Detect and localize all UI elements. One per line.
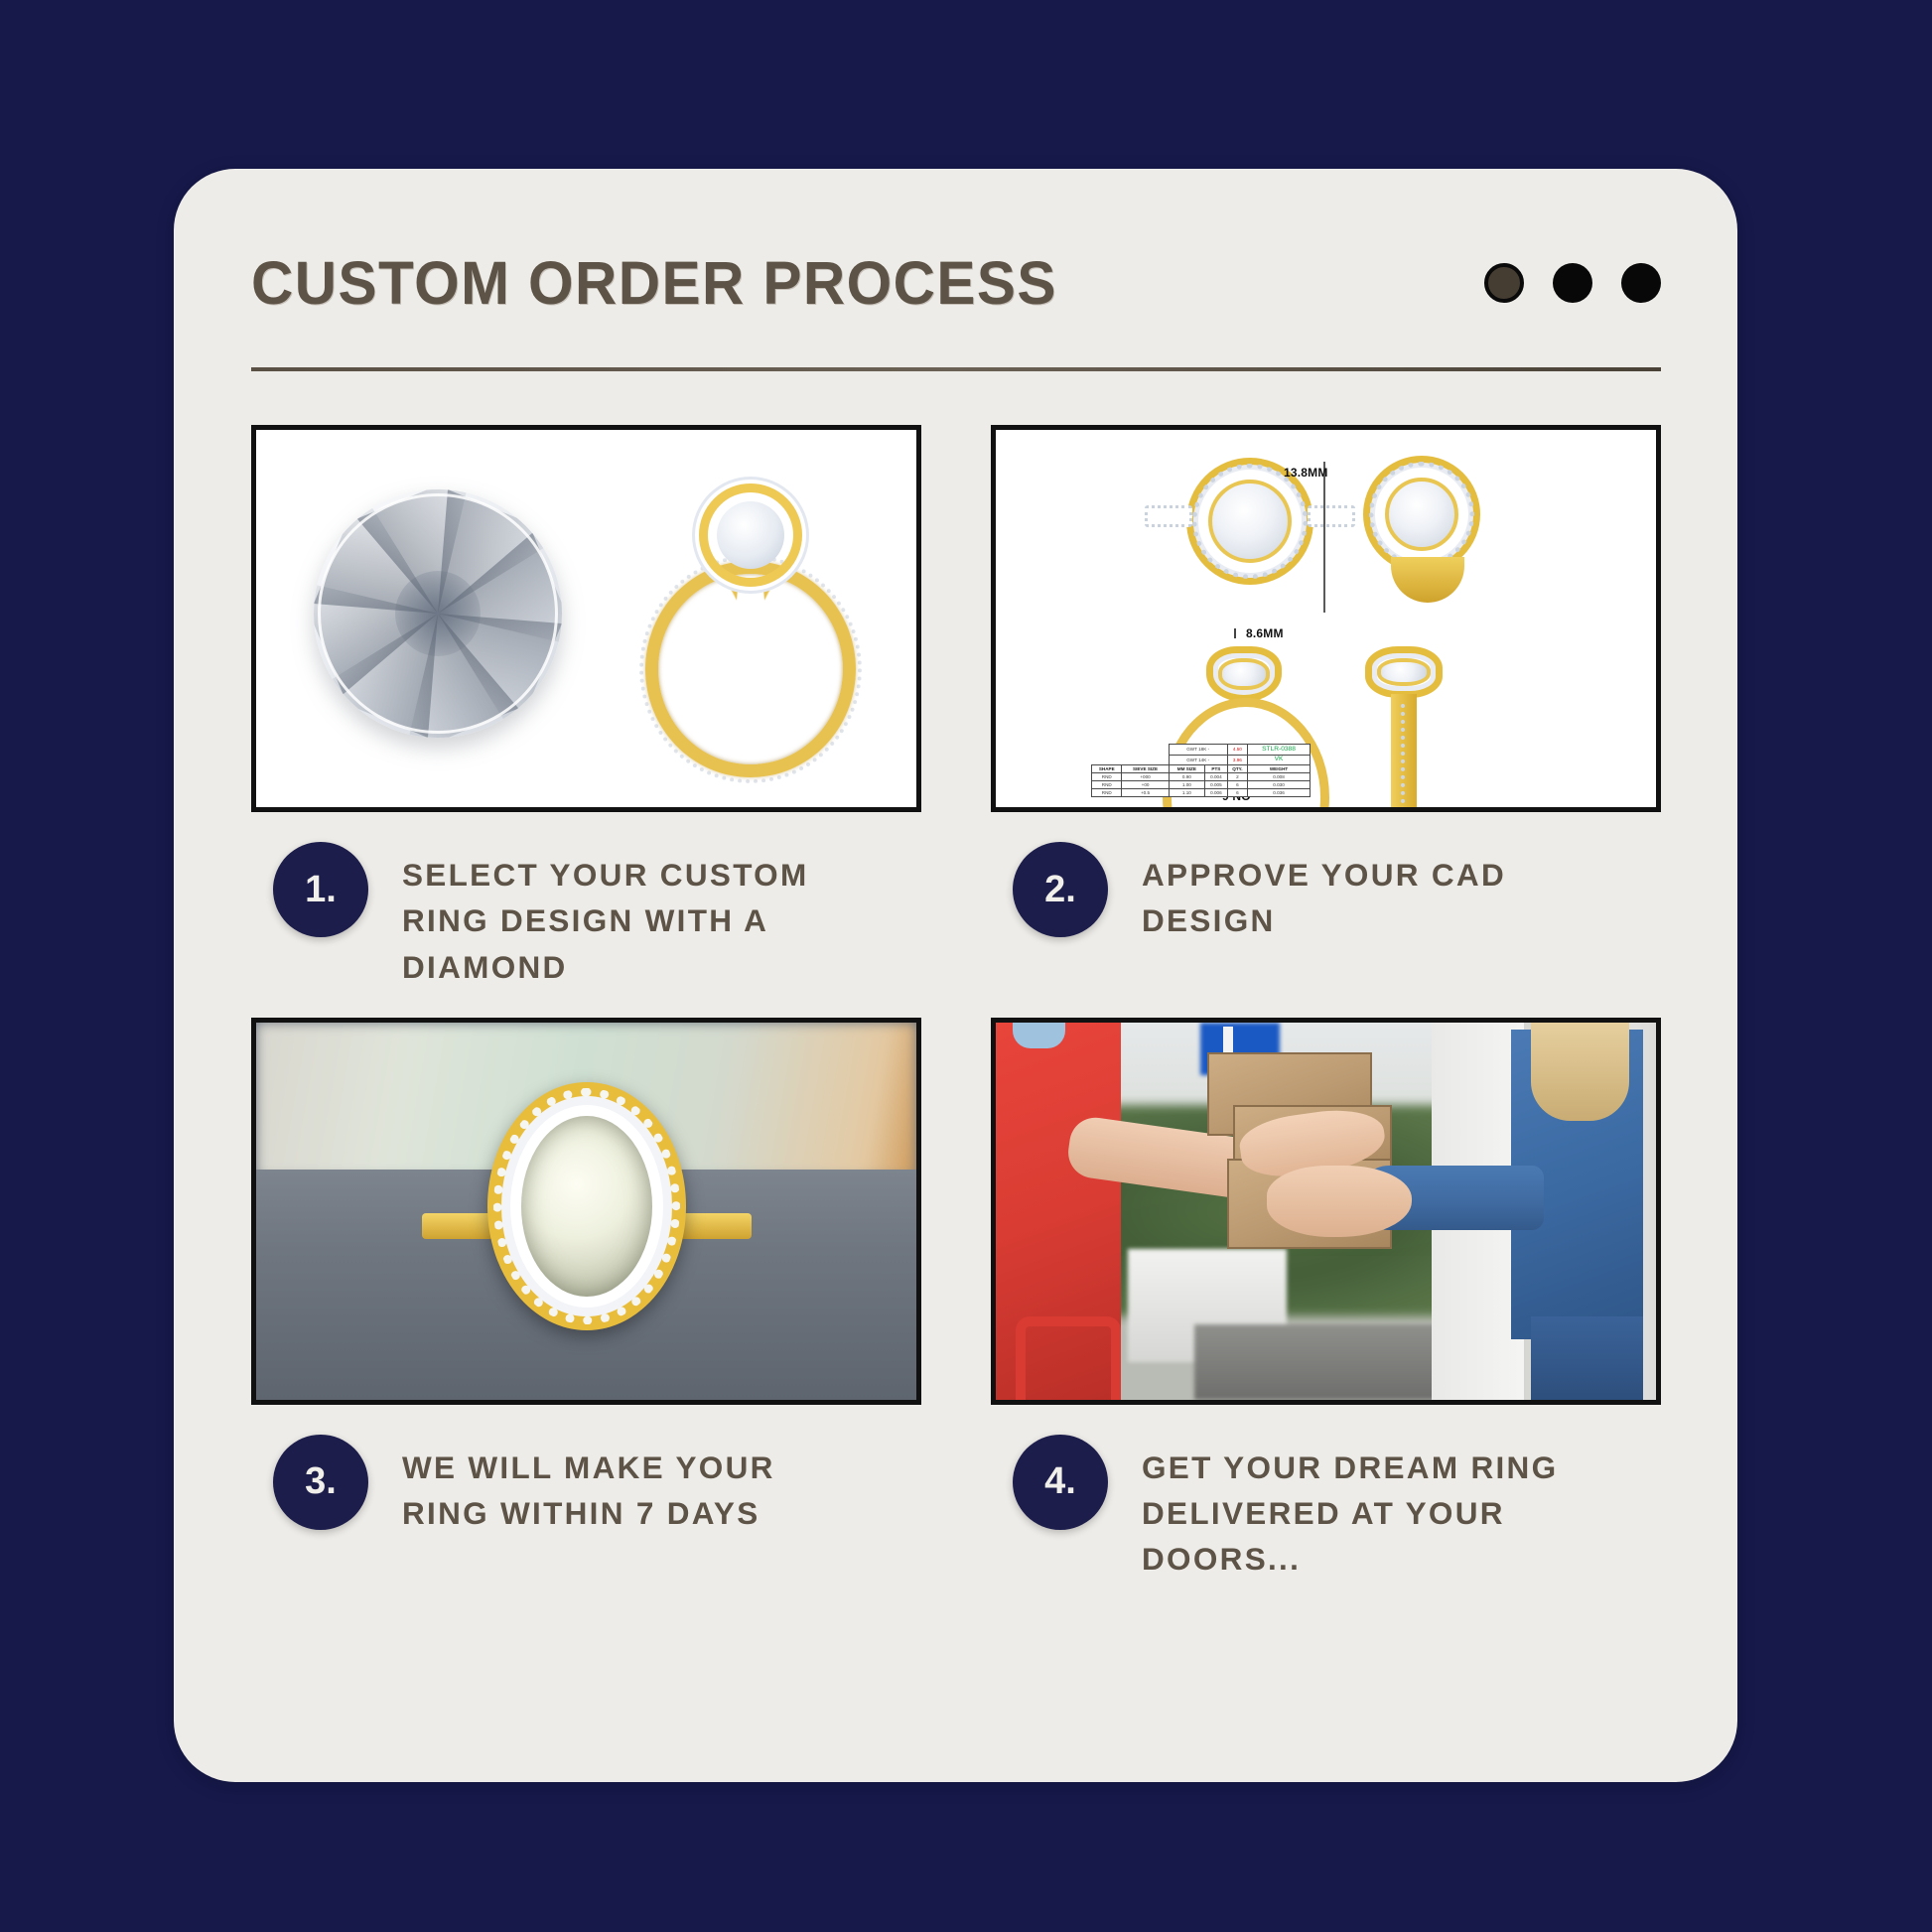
cad-angled-view	[1363, 456, 1480, 573]
step-1-badge: 1.	[273, 842, 368, 937]
step-1-caption: 1. SELECT YOUR CUSTOM RING DESIGN WITH A…	[251, 812, 921, 990]
dot-one-icon[interactable]	[1484, 263, 1524, 303]
window-controls	[1484, 263, 1661, 303]
customer-hand	[1267, 1166, 1412, 1237]
step-1-image	[251, 425, 921, 812]
step-3-badge: 3.	[273, 1435, 368, 1530]
table-row: RND +00 1.00 0.005 6 0.030	[1092, 781, 1311, 789]
cad-th-pts: PTS	[1205, 765, 1228, 773]
table-row: RND +000 0.90 0.004 2 0.008	[1092, 773, 1311, 781]
dot-three-icon[interactable]	[1621, 263, 1661, 303]
cad-th-weight: WEIGHT	[1248, 765, 1311, 773]
hand-truck-icon	[1016, 1316, 1121, 1400]
step-2-image: 13.8MM 8.6MM	[991, 425, 1661, 812]
step-item-3: 3. WE WILL MAKE YOUR RING WITHIN 7 DAYS	[251, 1018, 921, 1583]
step-3-caption: 3. WE WILL MAKE YOUR RING WITHIN 7 DAYS	[251, 1405, 921, 1537]
cad-th-mm: MM SIZE	[1169, 765, 1204, 773]
step-item-1: 1. SELECT YOUR CUSTOM RING DESIGN WITH A…	[251, 425, 921, 990]
steps-grid: 1. SELECT YOUR CUSTOM RING DESIGN WITH A…	[251, 425, 1661, 1583]
cad-gwt14k-label: GWT 14K -	[1169, 755, 1227, 764]
cad-th-qty: QTY.	[1227, 765, 1247, 773]
page-title: CUSTOM ORDER PROCESS	[251, 248, 1057, 318]
step-3-label: WE WILL MAKE YOUR RING WITHIN 7 DAYS	[402, 1435, 869, 1537]
step-2-label: APPROVE YOUR CAD DESIGN	[1142, 842, 1579, 944]
customer-hair	[1531, 1023, 1630, 1121]
photo-road	[1194, 1324, 1458, 1400]
halo-ring-icon	[621, 476, 880, 783]
cad-dimension-top: 13.8MM	[1284, 466, 1328, 480]
step-item-2: 13.8MM 8.6MM	[991, 425, 1661, 990]
customer-jeans	[1531, 1316, 1643, 1400]
cad-dimension-front: 8.6MM	[1246, 626, 1284, 640]
step-4-image	[991, 1018, 1661, 1405]
cad-style-code: STLR-0388	[1248, 745, 1311, 755]
step-4-caption: 4. GET YOUR DREAM RING DELIVERED AT YOUR…	[991, 1405, 1661, 1583]
cad-gwt18k-label: GWT 18K -	[1169, 745, 1227, 755]
cad-maker-code: VK	[1248, 755, 1311, 764]
cad-gwt14k-value: 3.96	[1227, 755, 1247, 764]
step-2-badge: 2.	[1013, 842, 1108, 937]
card-header: CUSTOM ORDER PROCESS	[251, 223, 1661, 343]
dot-two-icon[interactable]	[1553, 263, 1592, 303]
cad-th-shape: SHAPE	[1092, 765, 1122, 773]
loose-diamond-icon	[314, 489, 562, 738]
header-divider	[251, 367, 1661, 371]
process-card: CUSTOM ORDER PROCESS	[174, 169, 1737, 1782]
step-2-caption: 2. APPROVE YOUR CAD DESIGN	[991, 812, 1661, 944]
table-row: RND +0.5 1.10 0.006 6 0.036	[1092, 789, 1311, 797]
step-3-image	[251, 1018, 921, 1405]
cad-spec-table: GWT 18K - 4.50 STLR-0388 GWT 14K - 3.96 …	[1091, 744, 1311, 797]
cad-th-sieve: SIEVE SIZE	[1122, 765, 1169, 773]
step-item-4: 4. GET YOUR DREAM RING DELIVERED AT YOUR…	[991, 1018, 1661, 1583]
cad-front-head	[1206, 646, 1282, 702]
cad-drawing: 13.8MM 8.6MM	[996, 430, 1656, 807]
finished-ring-icon	[487, 1082, 686, 1330]
step-4-badge: 4.	[1013, 1435, 1108, 1530]
step-4-label: GET YOUR DREAM RING DELIVERED AT YOUR DO…	[1142, 1435, 1579, 1583]
cad-gwt18k-value: 4.50	[1227, 745, 1247, 755]
face-mask-icon	[1013, 1023, 1065, 1049]
step-1-label: SELECT YOUR CUSTOM RING DESIGN WITH A DI…	[402, 842, 869, 990]
cad-side-head	[1365, 646, 1443, 698]
